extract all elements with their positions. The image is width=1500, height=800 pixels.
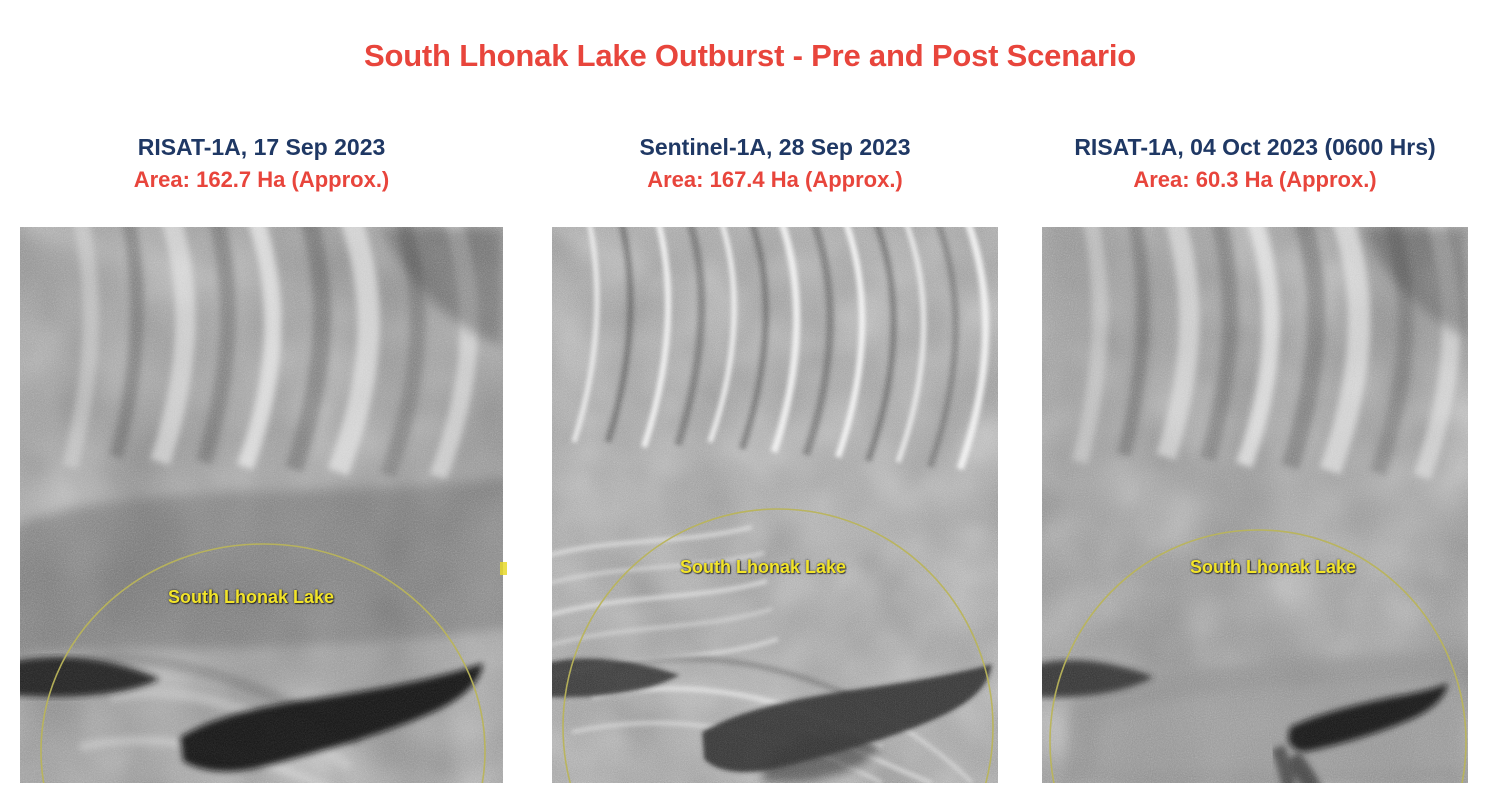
- panel-sensor-label: RISAT-1A, 04 Oct 2023 (0600 Hrs): [1010, 135, 1500, 160]
- panel-header: RISAT-1A, 04 Oct 2023 (0600 Hrs) Area: 6…: [1010, 135, 1500, 192]
- panel-header: Sentinel-1A, 28 Sep 2023 Area: 167.4 Ha …: [532, 135, 1018, 192]
- panel-area-label: Area: 60.3 Ha (Approx.): [1010, 168, 1500, 192]
- panel-sensor-label: RISAT-1A, 17 Sep 2023: [10, 135, 513, 160]
- panel-area-label: Area: 167.4 Ha (Approx.): [532, 168, 1018, 192]
- sar-image-3: South Lhonak Lake: [1042, 227, 1468, 783]
- stray-annotation-mark: [500, 562, 507, 575]
- sar-image-1: South Lhonak Lake: [20, 227, 503, 783]
- panel-header: RISAT-1A, 17 Sep 2023 Area: 162.7 Ha (Ap…: [10, 135, 513, 192]
- panel-sensor-label: Sentinel-1A, 28 Sep 2023: [532, 135, 1018, 160]
- sar-image-2: South Lhonak Lake: [552, 227, 998, 783]
- panel-area-label: Area: 162.7 Ha (Approx.): [10, 168, 513, 192]
- panel-grid: RISAT-1A, 17 Sep 2023 Area: 162.7 Ha (Ap…: [0, 0, 1500, 800]
